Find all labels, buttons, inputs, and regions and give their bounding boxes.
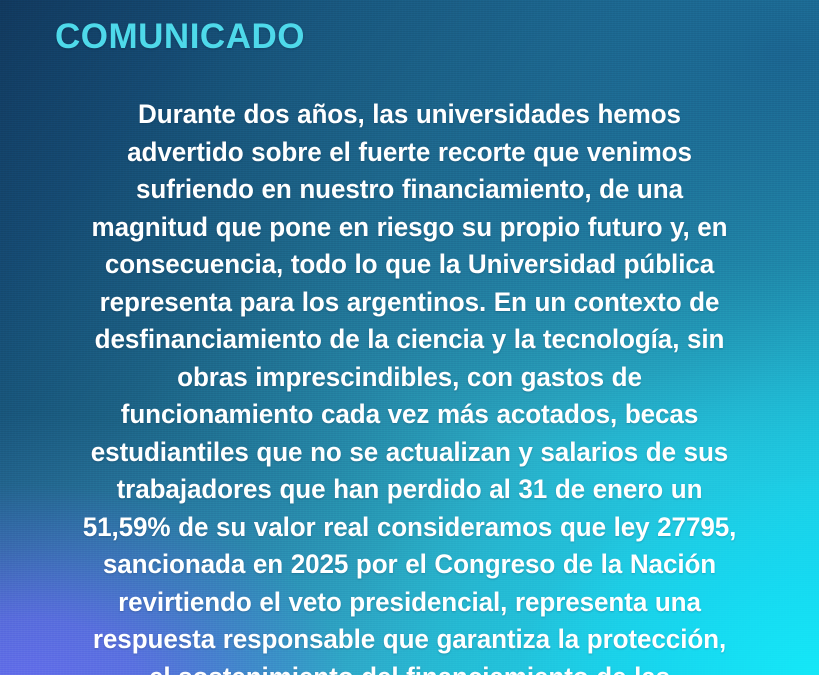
announcement-body-line: Durante dos años, las universidades hemo… xyxy=(63,96,757,134)
announcement-body-line: desfinanciamiento de la ciencia y la tec… xyxy=(63,321,757,359)
announcement-body-line: respuesta responsable que garantiza la p… xyxy=(63,621,757,659)
announcement-body-line: 51,59% de su valor real consideramos que… xyxy=(63,509,757,547)
announcement-body-line: trabajadores que han perdido al 31 de en… xyxy=(63,471,757,509)
announcement-body-line: revirtiendo el veto presidencial, repres… xyxy=(63,584,757,622)
announcement-body-line: el sostenimiento del financiamiento de l… xyxy=(63,659,757,675)
poster-content: COMUNICADO Durante dos años, las univers… xyxy=(0,0,819,675)
page-title: COMUNICADO xyxy=(55,19,305,54)
announcement-body-line: sancionada en 2025 por el Congreso de la… xyxy=(63,546,757,584)
announcement-body-line: consecuencia, todo lo que la Universidad… xyxy=(63,246,757,284)
announcement-body-line: sufriendo en nuestro financiamiento, de … xyxy=(63,171,757,209)
announcement-body-line: representa para los argentinos. En un co… xyxy=(63,284,757,322)
announcement-body-line: magnitud que pone en riesgo su propio fu… xyxy=(63,209,757,247)
announcement-body-line: funcionamiento cada vez más acotados, be… xyxy=(63,396,757,434)
announcement-body: Durante dos años, las universidades hemo… xyxy=(63,96,757,675)
announcement-body-line: advertido sobre el fuerte recorte que ve… xyxy=(63,134,757,172)
comunicado-poster: COMUNICADO Durante dos años, las univers… xyxy=(0,0,819,675)
announcement-body-line: estudiantiles que no se actualizan y sal… xyxy=(63,434,757,472)
announcement-body-line: obras imprescindibles, con gastos de xyxy=(63,359,757,397)
